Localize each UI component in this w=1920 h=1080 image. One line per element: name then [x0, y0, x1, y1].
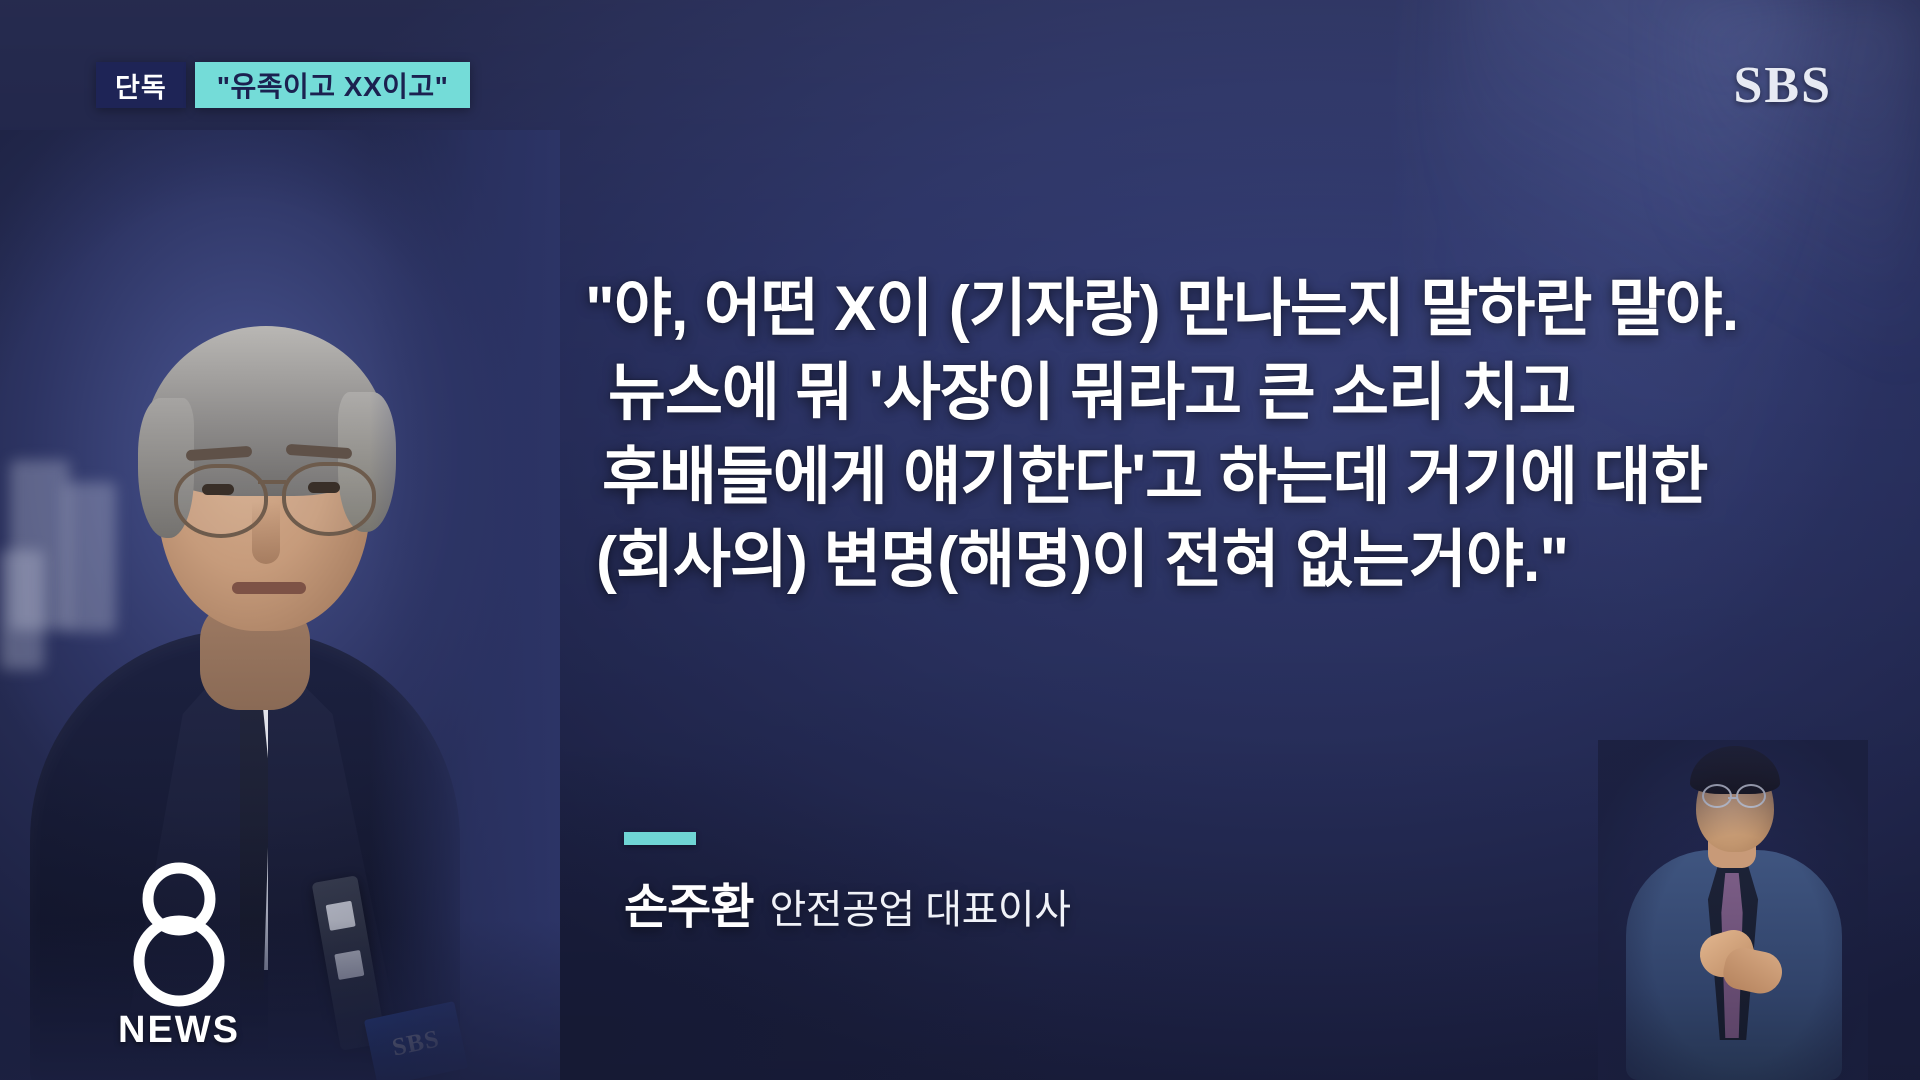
interpreter-eyeglasses-right: [1736, 784, 1766, 808]
figure-eight-icon: [119, 857, 239, 1007]
news-lower-third-screen: SBS 단독 "유족이고 XX이고" SBS "야, 어떤 X이 (기자랑) 만…: [0, 0, 1920, 1080]
subject-photo-bottom-fade: [0, 920, 560, 1080]
headline-chip: "유족이고 XX이고": [195, 62, 471, 108]
quote-line: "야, 어떤 X이 (기자랑) 만나는지 말하란 말야.: [585, 268, 1850, 352]
quote-line: (회사의) 변명(해명)이 전혀 없는거야.": [596, 519, 1850, 603]
exclusive-tag: 단독: [96, 62, 186, 108]
quote-line: 후배들에게 얘기한다'고 하는데 거기에 대한: [602, 436, 1850, 520]
sign-language-interpreter: [1608, 750, 1858, 1080]
quote-block: "야, 어떤 X이 (기자랑) 만나는지 말하란 말야. 뉴스에 뭐 '사장이 …: [560, 268, 1850, 603]
interpreter-eyeglasses-bridge: [1728, 797, 1737, 800]
program-logo-8-news: NEWS: [104, 857, 254, 1052]
attribution-accent-rule: [624, 832, 696, 845]
speaker-title: 안전공업 대표이사: [769, 877, 1070, 935]
interpreter-hair: [1690, 746, 1780, 794]
subject-photo: SBS: [0, 130, 560, 1080]
attribution-row: 손주환 안전공업 대표이사: [624, 867, 1071, 937]
quote-line: 뉴스에 뭐 '사장이 뭐라고 큰 소리 치고: [608, 352, 1850, 436]
sbs-network-logo: SBS: [1733, 56, 1832, 115]
top-banner: 단독 "유족이고 XX이고": [96, 62, 470, 108]
program-logo-word: NEWS: [104, 1009, 254, 1052]
speaker-name: 손주환: [624, 867, 753, 937]
attribution: 손주환 안전공업 대표이사: [624, 832, 1071, 937]
